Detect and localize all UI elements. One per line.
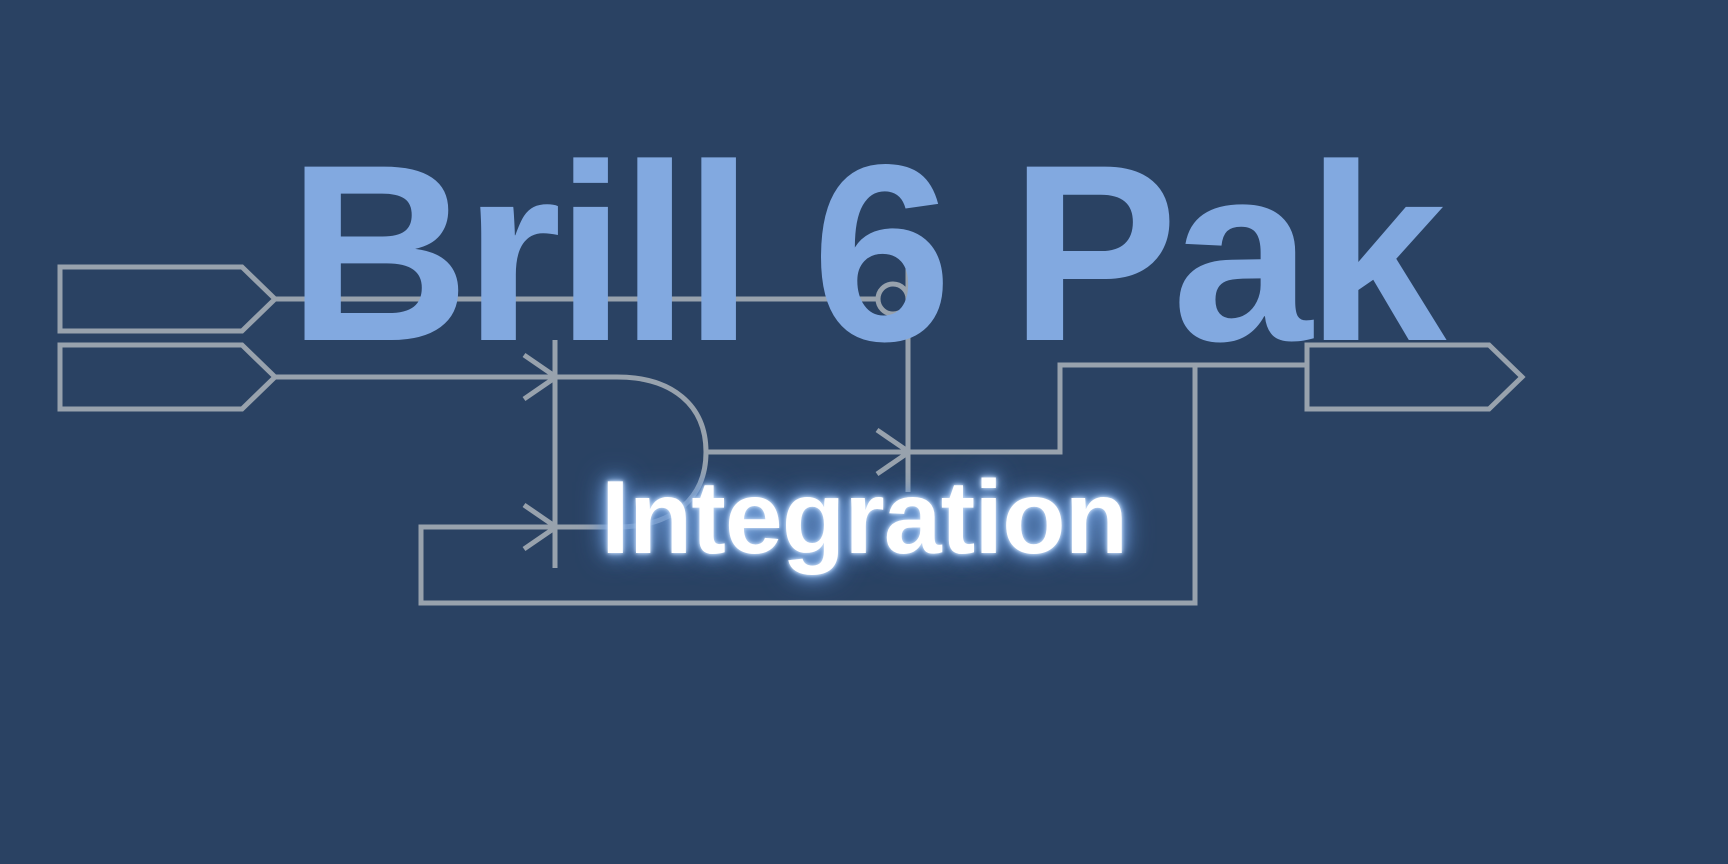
output-port-shape: [1307, 345, 1522, 409]
wire-gate2-output: [908, 365, 1307, 452]
input-port-2-shape: [60, 345, 275, 409]
wire-feedback: [421, 365, 1195, 603]
input-port-1-shape: [60, 267, 275, 331]
slide-canvas: Brill 6 Pak Integration: [0, 0, 1728, 864]
inverter-bubble-icon: [878, 284, 908, 314]
and-gate-curve: [555, 377, 706, 527]
logic-circuit-diagram: [0, 0, 1728, 864]
